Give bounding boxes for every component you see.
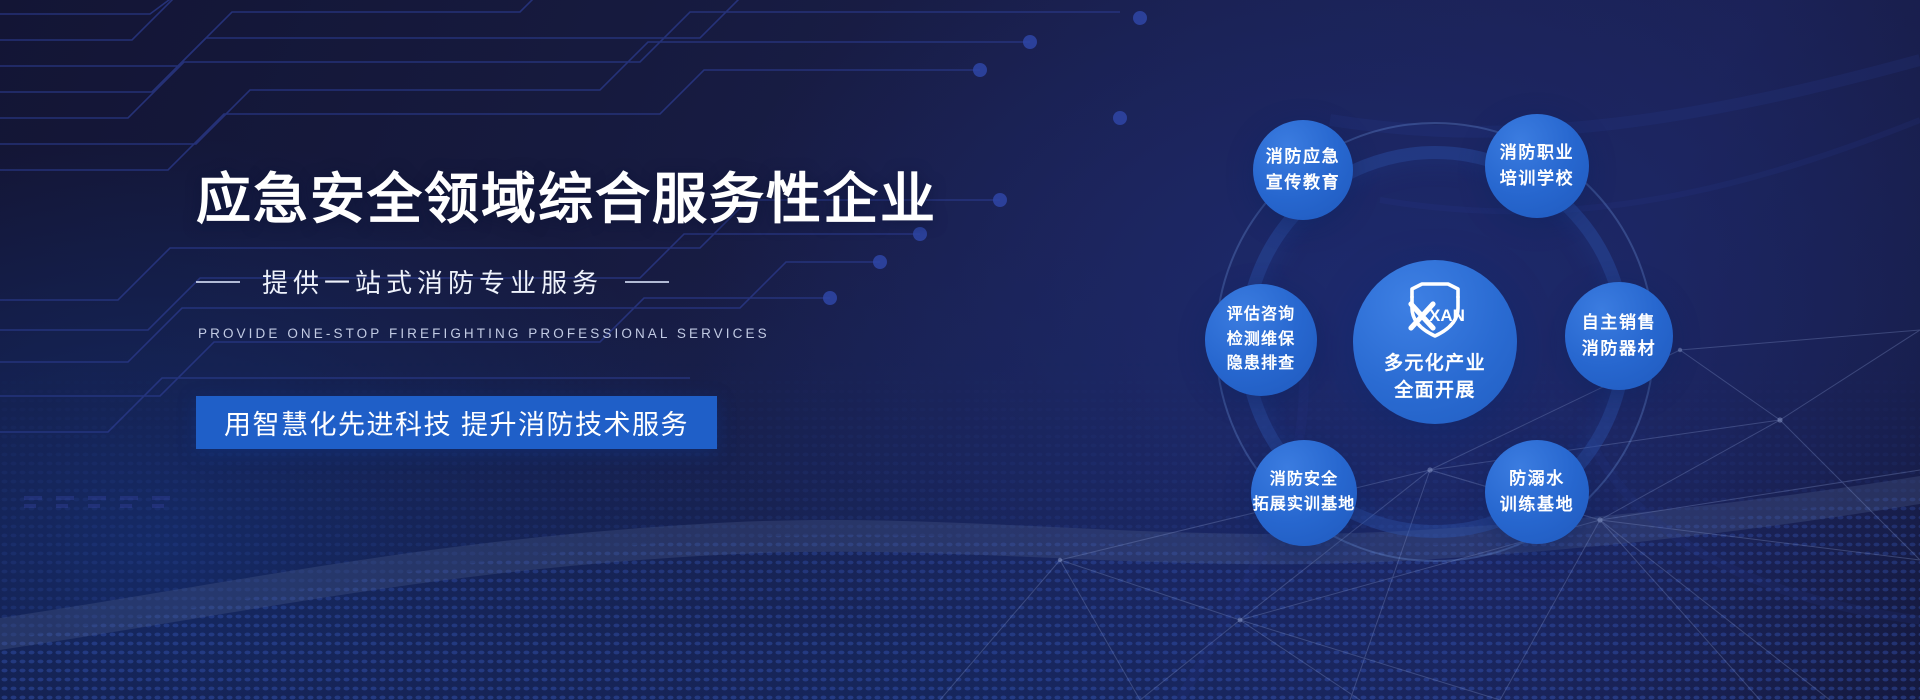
page-title: 应急安全领域综合服务性企业 xyxy=(196,168,916,231)
english-subtitle: PROVIDE ONE-STOP FIREFIGHTING PROFESSION… xyxy=(198,326,916,341)
shield-wordmark: XAN xyxy=(1429,306,1465,325)
subtitle-row: 提供一站式消防专业服务 xyxy=(196,263,916,300)
diagram-bubble-assessment-inspection[interactable]: 评估咨询 检测维保 隐患排查 xyxy=(1205,284,1317,396)
diagram-bubble-anti-drowning-base[interactable]: 防溺水 训练基地 xyxy=(1485,440,1589,544)
rule-left-decoration xyxy=(196,281,240,283)
core-line-1: 多元化产业 xyxy=(1384,351,1486,378)
bubble-line: 消防应急 xyxy=(1266,144,1340,170)
bubble-line: 隐患排查 xyxy=(1227,352,1295,377)
bubble-line: 检测维保 xyxy=(1227,328,1295,353)
rule-right-decoration xyxy=(625,281,669,283)
bubble-line: 拓展实训基地 xyxy=(1253,493,1356,518)
bubble-line: 防溺水 xyxy=(1509,466,1565,492)
bubble-line: 训练基地 xyxy=(1500,492,1574,518)
diagram-core-node[interactable]: XAN 多元化产业 全面开展 xyxy=(1353,260,1517,424)
cta-banner-button[interactable]: 用智慧化先进科技 提升消防技术服务 xyxy=(196,396,717,449)
bubble-line: 评估咨询 xyxy=(1227,303,1295,328)
bubble-line: 自主销售 xyxy=(1582,310,1656,336)
page-subtitle: 提供一站式消防专业服务 xyxy=(262,263,603,300)
hero-copy-block: 应急安全领域综合服务性企业 提供一站式消防专业服务 PROVIDE ONE-ST… xyxy=(196,168,916,449)
core-line-2: 全面开展 xyxy=(1394,378,1476,405)
diagram-bubble-vocational-school[interactable]: 消防职业 培训学校 xyxy=(1485,114,1589,218)
diagram-bubble-safety-training-base[interactable]: 消防安全 拓展实训基地 xyxy=(1251,440,1357,546)
bubble-line: 消防器材 xyxy=(1582,336,1656,362)
bubble-line: 宣传教育 xyxy=(1266,170,1340,196)
business-scope-diagram: 评估咨询 检测维保 隐患排查 消防应急 宣传教育 消防职业 培训学校 自主销售 … xyxy=(1155,92,1715,592)
bubble-line: 培训学校 xyxy=(1500,166,1574,192)
hero-banner: 应急安全领域综合服务性企业 提供一站式消防专业服务 PROVIDE ONE-ST… xyxy=(0,0,1920,700)
shield-icon: XAN xyxy=(1400,280,1470,347)
diagram-bubble-emergency-publicity[interactable]: 消防应急 宣传教育 xyxy=(1253,120,1353,220)
cta-banner-label: 用智慧化先进科技 提升消防技术服务 xyxy=(224,403,689,442)
diagram-bubble-equipment-sales[interactable]: 自主销售 消防器材 xyxy=(1565,282,1673,390)
bubble-line: 消防职业 xyxy=(1500,140,1574,166)
bubble-line: 消防安全 xyxy=(1270,468,1338,493)
